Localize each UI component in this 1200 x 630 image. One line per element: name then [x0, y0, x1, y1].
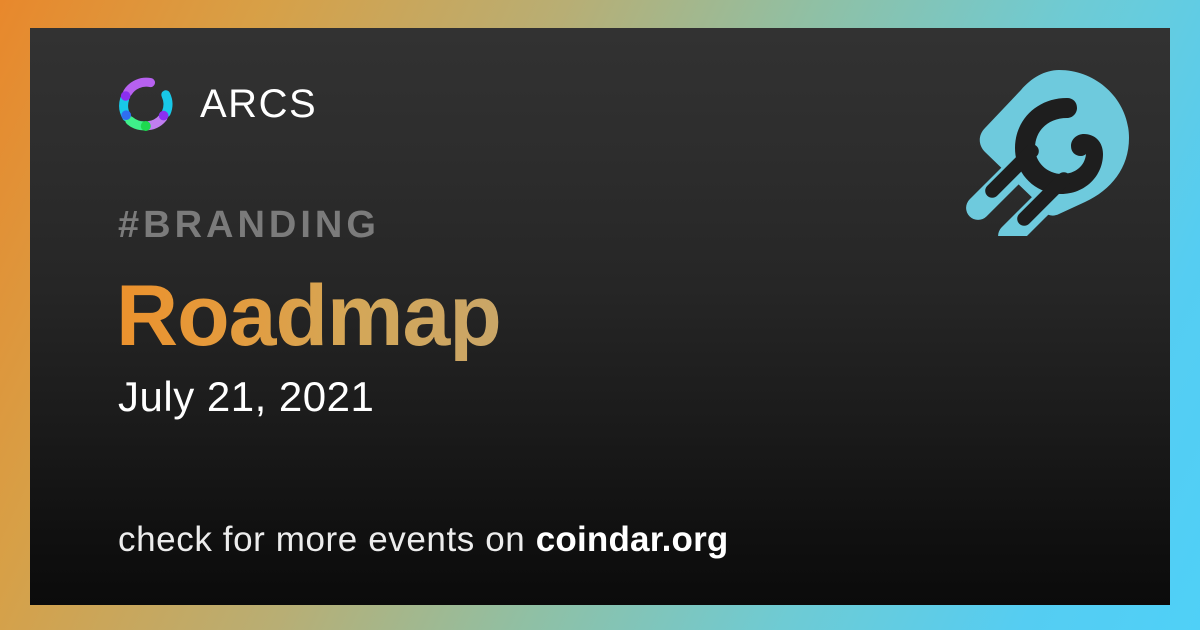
event-card: ARCS #BRANDING Roadmap J	[30, 28, 1170, 605]
event-tag: #BRANDING	[118, 206, 380, 244]
event-date: July 21, 2021	[118, 376, 374, 418]
footer-text: check for more events on coindar.org	[118, 522, 729, 557]
event-title: Roadmap	[116, 271, 501, 361]
arcs-ring-logo-icon	[114, 72, 178, 136]
brand-name: ARCS	[200, 84, 317, 124]
coindar-jellyfish-icon	[963, 56, 1143, 236]
footer-prefix: check for more events on	[118, 520, 536, 559]
footer-site-link[interactable]: coindar.org	[536, 520, 729, 559]
gradient-frame: ARCS #BRANDING Roadmap J	[0, 0, 1200, 630]
brand-row: ARCS	[114, 72, 317, 136]
